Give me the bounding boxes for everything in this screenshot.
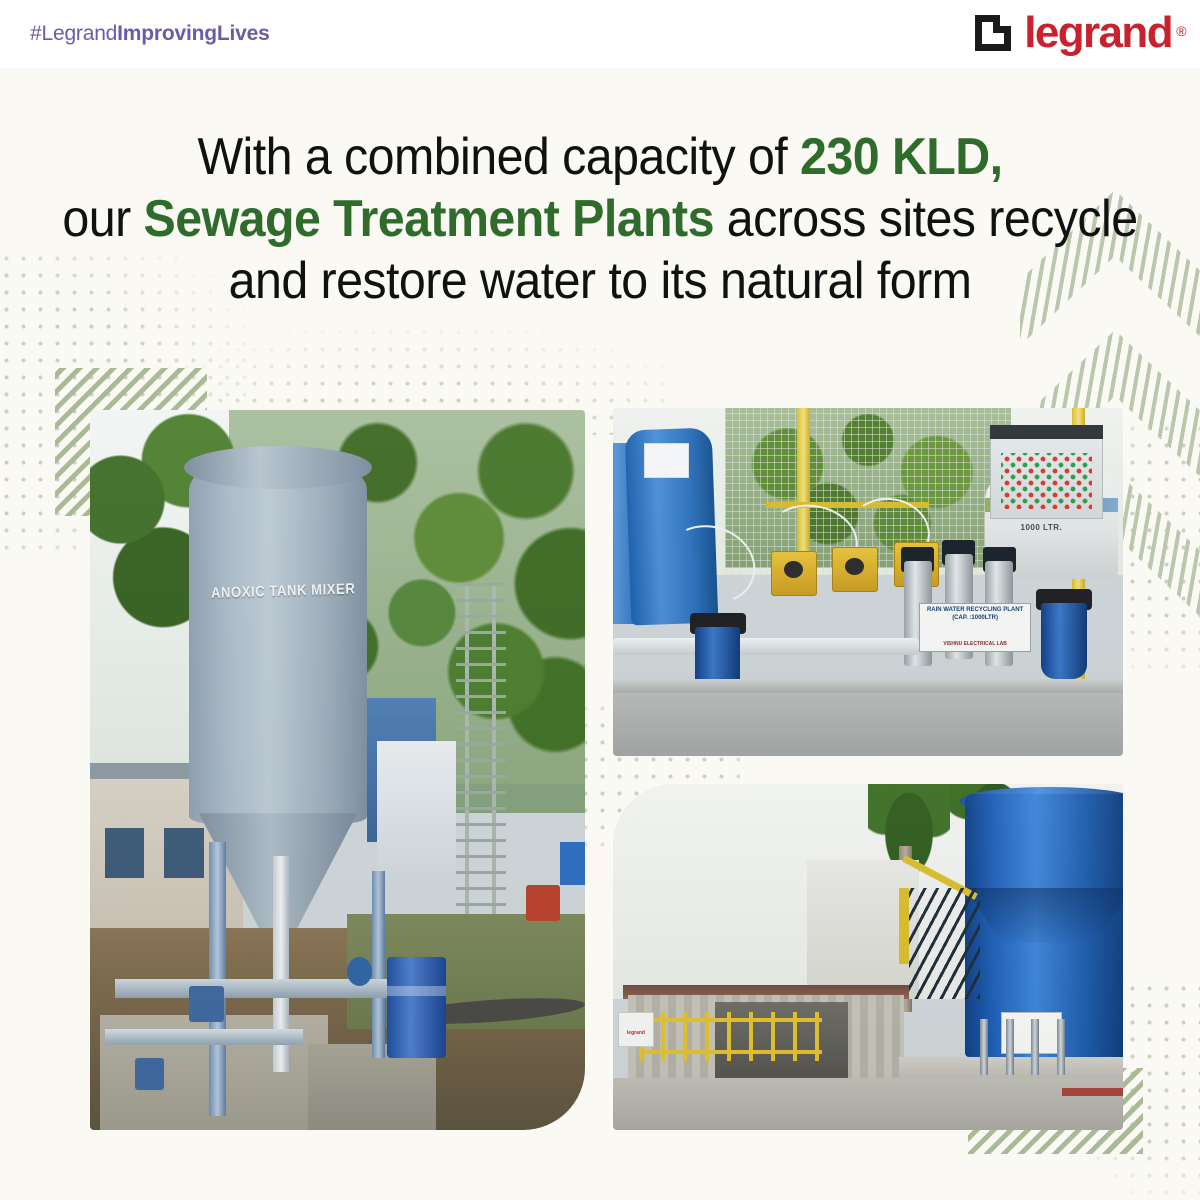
blue-chemical-drum <box>387 957 446 1058</box>
vertical-pipe-3 <box>372 871 385 1058</box>
concrete-floor <box>613 693 1123 756</box>
pipe-valve-1 <box>189 986 224 1022</box>
horizontal-pipe-1 <box>115 979 422 998</box>
photo-top-right-scene: 1000 LTR. RAIN WATER RECYCLING PLANT (CA… <box>613 408 1123 756</box>
photo-left-scene: ANOXIC TANK MIXER <box>90 410 585 1130</box>
photo-anoxic-tank-mixer: ANOXIC TANK MIXER <box>90 410 585 1130</box>
photo-blue-stp-tank: legrand <box>613 784 1123 1130</box>
white-header-pipe <box>613 638 919 655</box>
tank-capacity-label: 1000 LTR. <box>1001 523 1083 532</box>
plant-sign-title: RAIN WATER RECYCLING PLANT (CAP. :1000LT… <box>919 606 1031 622</box>
tank-pipe-2 <box>1006 1019 1014 1074</box>
stair-handrail-post <box>899 888 909 964</box>
building-window-1 <box>105 828 145 878</box>
red-ground-pipe <box>1062 1088 1123 1096</box>
legrand-wordmark-text: legrand <box>1024 8 1172 57</box>
legrand-wordmark: legrand® <box>1024 13 1172 53</box>
red-container <box>526 885 561 921</box>
pipe-valve-3 <box>347 957 372 986</box>
access-staircase <box>909 888 980 999</box>
dosing-pump-1 <box>771 551 817 596</box>
photo-bottom-right-scene: legrand <box>613 784 1123 1130</box>
pipe-valve-2 <box>135 1058 165 1090</box>
plant-sign-subtitle: VISHNU ELECTRICAL LAB <box>919 641 1031 647</box>
legrand-placard-label: legrand <box>618 1030 654 1036</box>
legrand-bracket-mark-icon <box>973 13 1013 53</box>
dosing-pump-2 <box>832 547 878 592</box>
anoxic-tank-body <box>189 453 367 827</box>
headline-line-3: and restore water to its natural form <box>42 250 1158 312</box>
horizontal-pipe-2 <box>105 1029 303 1045</box>
headline-line-1-text: With a combined capacity of <box>197 128 800 186</box>
control-panel-indicator-lights <box>1001 453 1093 509</box>
page-headline: With a combined capacity of 230 KLD, our… <box>42 126 1158 312</box>
headline-line-2: our Sewage Treatment Plants across sites… <box>42 188 1158 250</box>
headline-accent-stp: Sewage Treatment Plants <box>144 190 714 248</box>
white-side-tank <box>377 741 456 885</box>
anoxic-tank-rim <box>184 446 372 489</box>
tank-pipe-4 <box>1057 1019 1065 1074</box>
headline-line-1: With a combined capacity of 230 KLD, <box>42 126 1158 188</box>
photo-rain-water-recycling-plant: 1000 LTR. RAIN WATER RECYCLING PLANT (CA… <box>613 408 1123 756</box>
headline-line-2-post: across sites recycle <box>714 190 1138 248</box>
campaign-hashtag: #LegrandImprovingLives <box>30 22 270 46</box>
blue-filter-housing-2 <box>1041 603 1087 680</box>
headline-accent-capacity: 230 KLD, <box>800 128 1002 186</box>
tank-pipe-1 <box>980 1019 988 1074</box>
headline-line-2-pre: our <box>62 190 143 248</box>
blue-drum-band <box>387 986 446 996</box>
building-window-2 <box>164 828 204 878</box>
tank-pipe-3 <box>1031 1019 1039 1074</box>
header-bar: #LegrandImprovingLives legrand® <box>0 0 1200 68</box>
ground-paving <box>613 1078 1123 1130</box>
legrand-logo: legrand® <box>973 10 1172 56</box>
hashtag-prefix: #Legrand <box>30 22 117 45</box>
vessel-spec-label <box>644 443 690 478</box>
hashtag-bold: ImprovingLives <box>117 22 269 45</box>
yellow-safety-fence <box>639 1012 823 1060</box>
registered-trademark-icon: ® <box>1176 11 1185 51</box>
small-blue-tank <box>560 842 585 885</box>
control-panel-header <box>990 425 1102 439</box>
